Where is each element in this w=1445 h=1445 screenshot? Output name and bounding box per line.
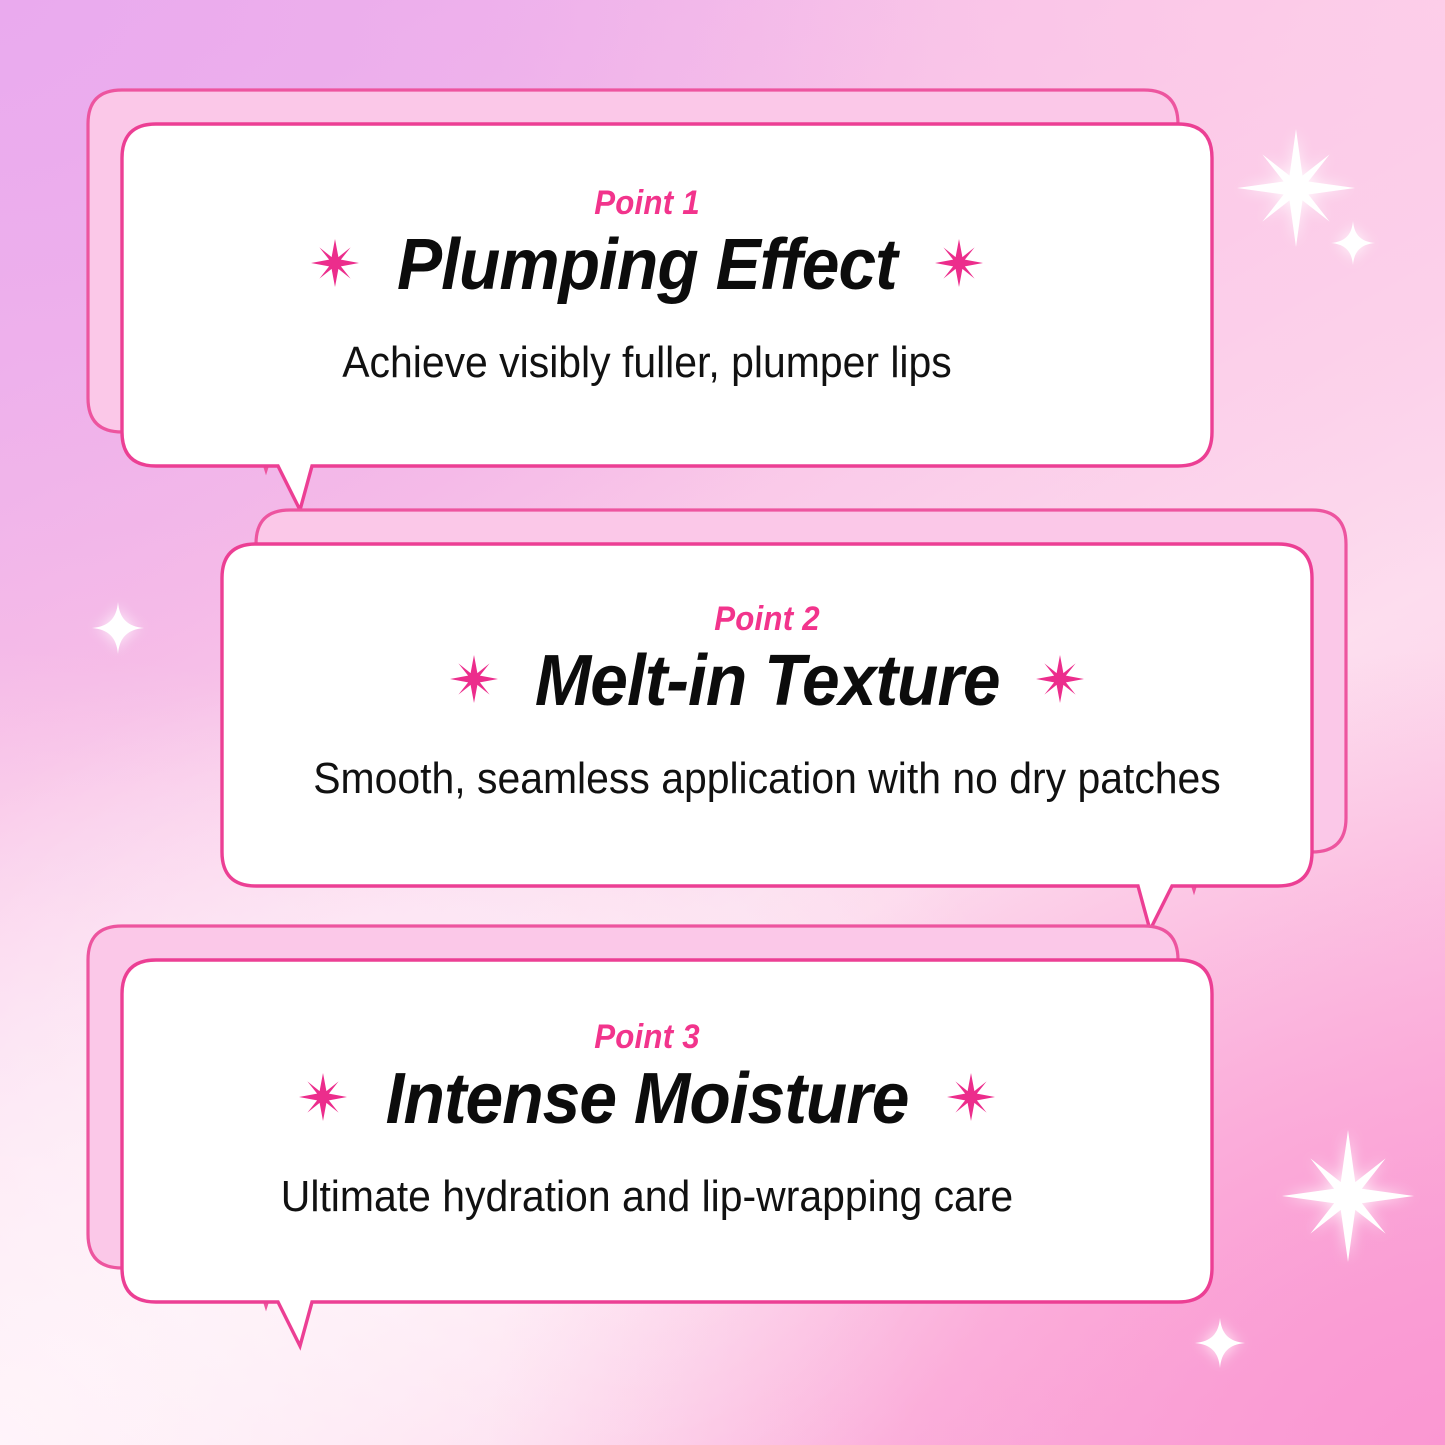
- card-1-point-label: Point 1: [127, 184, 1167, 223]
- card-3-description: Ultimate hydration and lip-wrapping care: [122, 1171, 1173, 1224]
- eight-point-sparkle-icon: [450, 655, 498, 708]
- point-card-1[interactable]: Point 1 Plumping Effect Achieve visibly …: [82, 112, 1212, 512]
- point-card-3[interactable]: Point 3 Intense Moisture Ultimate hydrat…: [82, 948, 1212, 1348]
- card-2-title: Melt-in Texture: [535, 643, 1000, 719]
- card-3-point-label: Point 3: [127, 1018, 1167, 1057]
- eight-point-sparkle-icon: [947, 1073, 995, 1126]
- card-1-description: Achieve visibly fuller, plumper lips: [122, 337, 1173, 390]
- card-1-title: Plumping Effect: [397, 227, 897, 303]
- eight-point-sparkle-icon: [1036, 655, 1084, 708]
- point-card-2[interactable]: Point 2 Melt-in Texture Smooth, seamless…: [222, 532, 1352, 932]
- card-2-title-row: Melt-in Texture: [222, 643, 1312, 719]
- eight-point-sparkle-icon: [935, 239, 983, 292]
- points-stage: Point 1 Plumping Effect Achieve visibly …: [0, 0, 1445, 1445]
- eight-point-sparkle-icon: [311, 239, 359, 292]
- card-1-title-row: Plumping Effect: [82, 227, 1212, 303]
- card-3-title-row: Intense Moisture: [82, 1061, 1212, 1137]
- card-3-title: Intense Moisture: [386, 1061, 909, 1137]
- eight-point-sparkle-icon: [299, 1073, 347, 1126]
- card-2-description: Smooth, seamless application with no dry…: [260, 753, 1274, 806]
- card-2-point-label: Point 2: [266, 600, 1269, 639]
